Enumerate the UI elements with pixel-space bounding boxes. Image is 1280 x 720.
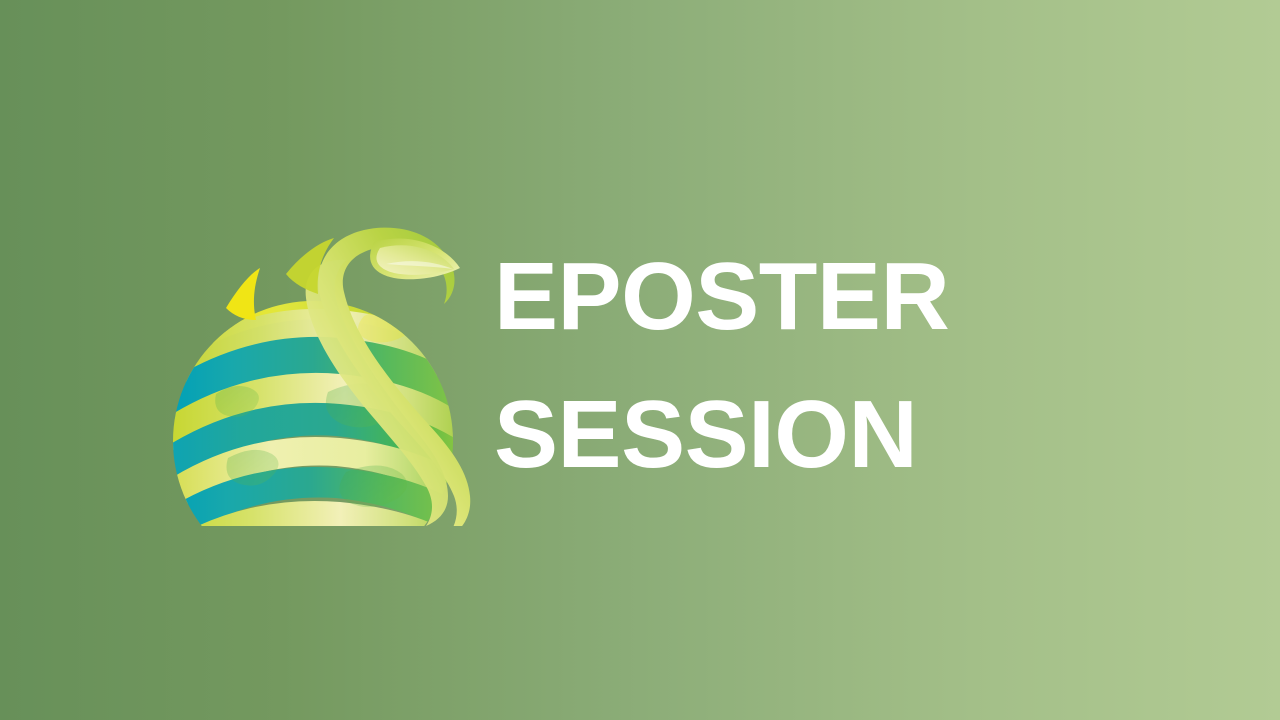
slide-canvas: EPOSTER SESSION	[0, 0, 1280, 720]
logo-flame-tip	[226, 268, 260, 320]
logo-leaf-inner	[376, 245, 454, 275]
title-line-session: SESSION	[494, 366, 1194, 504]
page-title: EPOSTER SESSION	[494, 228, 1194, 504]
striped-globe-leaf-logo	[168, 196, 488, 526]
title-line-eposter: EPOSTER	[494, 228, 1194, 366]
